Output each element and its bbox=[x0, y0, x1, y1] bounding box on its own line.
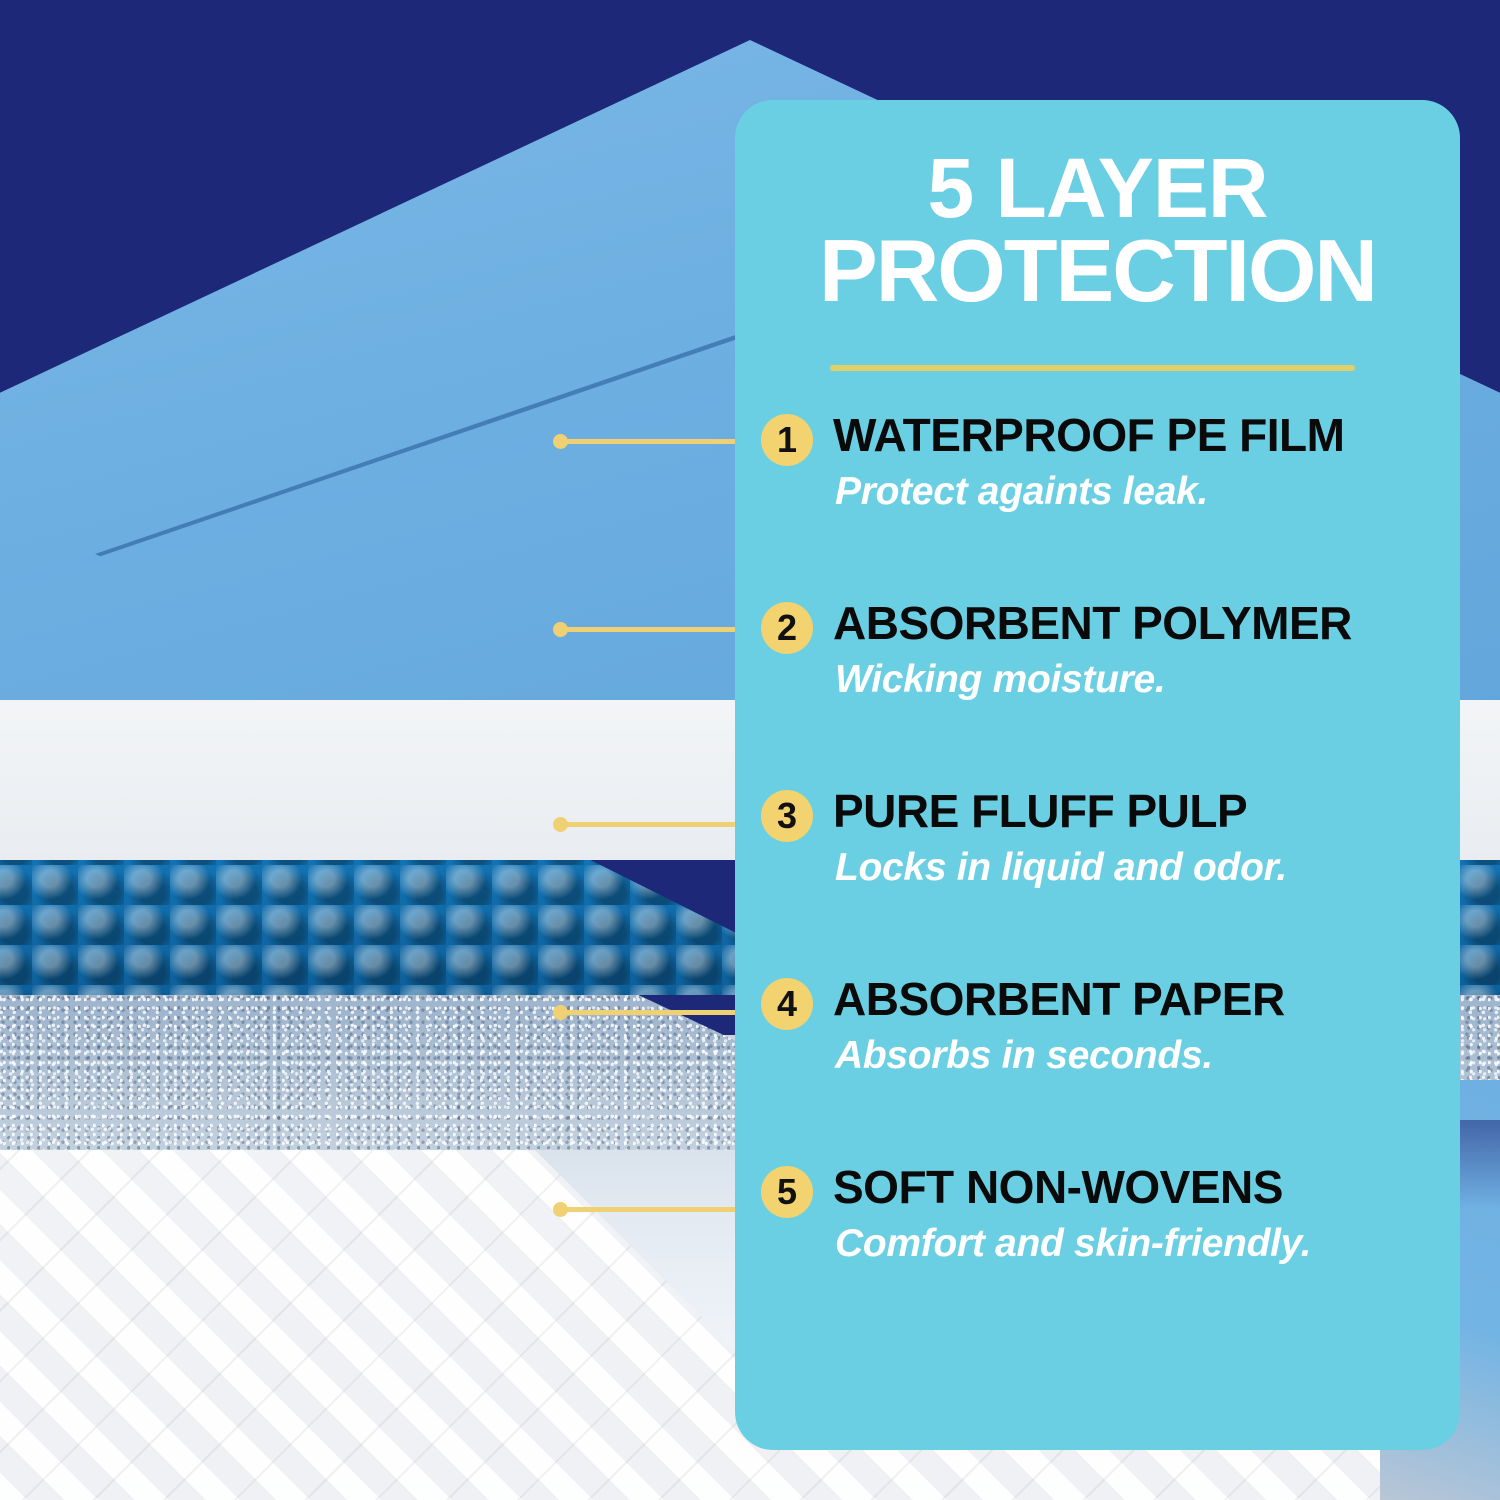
layer-item-5: 5 SOFT NON-WOVENS Comfort and skin-frien… bbox=[735, 1152, 1460, 1340]
layer-subtitle-5: Comfort and skin-friendly. bbox=[835, 1222, 1446, 1266]
layer-subtitle-4: Absorbs in seconds. bbox=[835, 1034, 1446, 1078]
layer-list: 1 WATERPROOF PE FILM Protect againts lea… bbox=[735, 400, 1460, 1340]
panel-title: 5 LAYER PROTECTION bbox=[735, 148, 1460, 313]
layer-title-2: ABSORBENT POLYMER bbox=[833, 596, 1446, 650]
layer-item-1: 1 WATERPROOF PE FILM Protect againts lea… bbox=[735, 400, 1460, 588]
layer-item-4: 4 ABSORBENT PAPER Absorbs in seconds. bbox=[735, 964, 1460, 1152]
layer-subtitle-2: Wicking moisture. bbox=[835, 658, 1446, 702]
five-layer-protection-panel: 5 LAYER PROTECTION 1 WATERPROOF PE FILM … bbox=[735, 100, 1460, 1450]
layer-title-5: SOFT NON-WOVENS bbox=[833, 1160, 1446, 1214]
layer-number-badge-3: 3 bbox=[761, 790, 813, 842]
layer-number-badge-5: 5 bbox=[761, 1166, 813, 1218]
gold-divider bbox=[830, 365, 1355, 371]
layer-number-badge-2: 2 bbox=[761, 602, 813, 654]
layer-title-4: ABSORBENT PAPER bbox=[833, 972, 1446, 1026]
layer-title-1: WATERPROOF PE FILM bbox=[833, 408, 1446, 462]
layer-title-3: PURE FLUFF PULP bbox=[833, 784, 1446, 838]
layer-number-badge-1: 1 bbox=[761, 414, 813, 466]
infographic-canvas: 5 LAYER PROTECTION 1 WATERPROOF PE FILM … bbox=[0, 0, 1500, 1500]
layer-item-3: 3 PURE FLUFF PULP Locks in liquid and od… bbox=[735, 776, 1460, 964]
panel-title-line-2: PROTECTION bbox=[735, 229, 1460, 313]
layer-number-badge-4: 4 bbox=[761, 978, 813, 1030]
layer-subtitle-3: Locks in liquid and odor. bbox=[835, 846, 1446, 890]
layer-subtitle-1: Protect againts leak. bbox=[835, 470, 1446, 514]
layer-item-2: 2 ABSORBENT POLYMER Wicking moisture. bbox=[735, 588, 1460, 776]
